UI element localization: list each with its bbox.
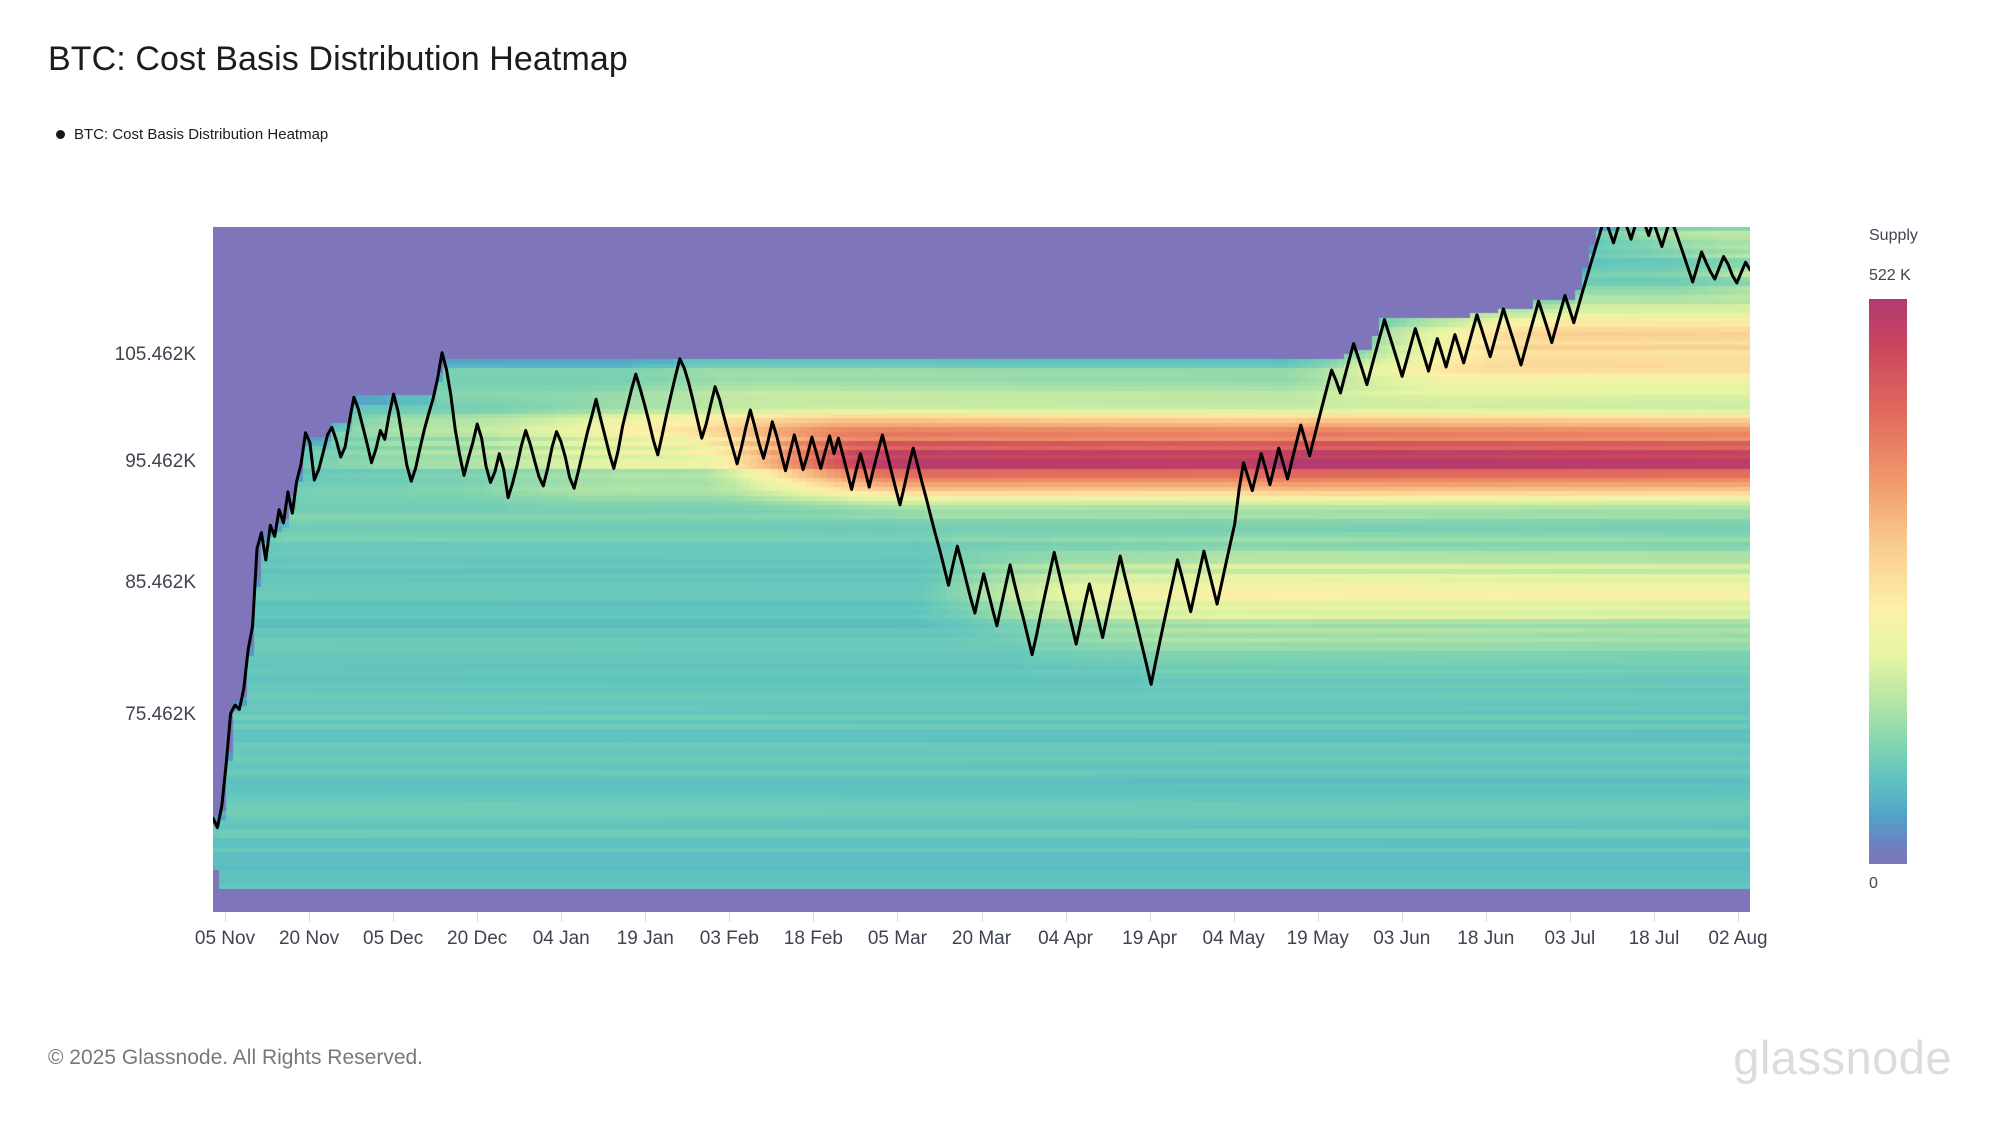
x-axis-tick-label: 20 Dec — [447, 928, 507, 950]
copyright-text: © 2025 Glassnode. All Rights Reserved. — [48, 1046, 423, 1070]
x-axis-tick-label: 04 Jan — [533, 928, 590, 950]
x-axis-tick-mark — [645, 912, 646, 922]
x-axis-tick-label: 19 May — [1287, 928, 1349, 950]
x-axis-tick-mark — [1150, 912, 1151, 922]
x-axis-tick-label: 04 May — [1203, 928, 1265, 950]
colorbar-title: Supply — [1869, 227, 1918, 245]
x-axis-tick-label: 03 Feb — [700, 928, 759, 950]
chart-page: BTC: Cost Basis Distribution Heatmap BTC… — [0, 0, 2000, 1125]
x-axis-tick-mark — [225, 912, 226, 922]
y-axis: 105.462K95.462K85.462K75.462K — [0, 0, 196, 1125]
x-axis-tick-mark — [1654, 912, 1655, 922]
colorbar-max-label: 522 K — [1869, 267, 1911, 285]
x-axis-tick-mark — [1066, 912, 1067, 922]
x-axis-tick-label: 05 Mar — [868, 928, 927, 950]
x-axis-tick-mark — [477, 912, 478, 922]
x-axis-tick-mark — [813, 912, 814, 922]
x-axis-tick-mark — [309, 912, 310, 922]
x-axis-tick-mark — [393, 912, 394, 922]
x-axis-tick-label: 18 Jun — [1457, 928, 1514, 950]
x-axis-tick-mark — [982, 912, 983, 922]
x-axis-tick-label: 03 Jul — [1545, 928, 1596, 950]
y-axis-tick-label: 95.462K — [125, 451, 196, 473]
x-axis-tick-label: 05 Nov — [195, 928, 255, 950]
x-axis-tick-mark — [1570, 912, 1571, 922]
x-axis-tick-mark — [1738, 912, 1739, 922]
x-axis-tick-mark — [897, 912, 898, 922]
x-axis-tick-mark — [1402, 912, 1403, 922]
y-axis-tick-label: 85.462K — [125, 572, 196, 594]
x-axis-tick-label: 20 Nov — [279, 928, 339, 950]
x-axis-tick-mark — [729, 912, 730, 922]
x-axis-tick-mark — [1318, 912, 1319, 922]
glassnode-watermark: glassnode — [1733, 1030, 1952, 1085]
x-axis-tick-label: 20 Mar — [952, 928, 1011, 950]
heatmap-canvas — [213, 227, 1750, 912]
y-axis-tick-label: 75.462K — [125, 704, 196, 726]
x-axis-tick-label: 05 Dec — [363, 928, 423, 950]
x-axis-tick-label: 03 Jun — [1373, 928, 1430, 950]
y-axis-tick-label: 105.462K — [115, 344, 196, 366]
colorbar-min-label: 0 — [1869, 875, 1878, 893]
x-axis-tick-mark — [561, 912, 562, 922]
colorbar: Supply 522 K 0 — [1845, 227, 1995, 967]
x-axis-tick-label: 19 Apr — [1122, 928, 1177, 950]
x-axis-tick-label: 18 Feb — [784, 928, 843, 950]
heatmap-plot-area[interactable] — [213, 227, 1750, 912]
x-axis-tick-mark — [1486, 912, 1487, 922]
x-axis-tick-label: 19 Jan — [617, 928, 674, 950]
x-axis-tick-label: 02 Aug — [1708, 928, 1767, 950]
x-axis-tick-label: 04 Apr — [1038, 928, 1093, 950]
colorbar-gradient — [1869, 299, 1907, 864]
x-axis-tick-label: 18 Jul — [1629, 928, 1680, 950]
x-axis-tick-mark — [1234, 912, 1235, 922]
